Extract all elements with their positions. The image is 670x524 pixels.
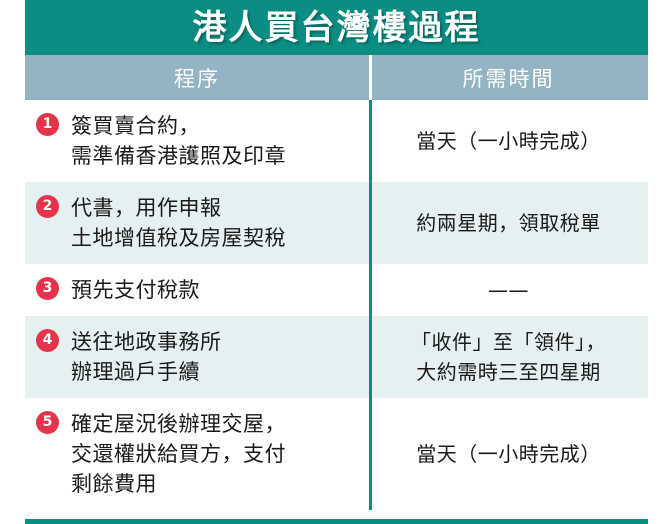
column-divider-header	[369, 55, 372, 100]
step-number-badge: 5	[36, 411, 59, 434]
step-cell: 2 代書，用作申報 土地增值稅及房屋契稅	[25, 182, 369, 264]
step-cell: 3 預先支付稅款	[25, 264, 369, 316]
time-description: 「收件」至「領件」， 大約需時三至四星期	[411, 327, 606, 387]
time-cell: 當天（一小時完成）	[369, 100, 648, 182]
bottom-rule	[25, 519, 648, 524]
table-body: 1 簽買賣合約， 需準備香港護照及印章 當天（一小時完成） 2 代書，用作申報 …	[25, 100, 648, 510]
step-cell: 5 確定屋況後辦理交屋， 交還權狀給買方，支付 剩餘費用	[25, 398, 369, 510]
step-description: 代書，用作申報 土地增值稅及房屋契稅	[71, 193, 286, 253]
table-row: 5 確定屋況後辦理交屋， 交還權狀給買方，支付 剩餘費用 當天（一小時完成）	[25, 398, 648, 510]
step-number-badge: 3	[36, 277, 59, 300]
time-description: 約兩星期，領取稅單	[416, 208, 601, 238]
table-row: 4 送往地政事務所 辦理過戶手續 「收件」至「領件」， 大約需時三至四星期	[25, 316, 648, 398]
page-title: 港人買台灣樓過程	[193, 11, 481, 45]
step-cell: 4 送往地政事務所 辦理過戶手續	[25, 316, 369, 398]
infographic-root: 港人買台灣樓過程 程序 所需時間 1 簽買賣合約， 需準備香港護照及印章 當天（…	[0, 0, 670, 508]
time-cell: ——	[369, 264, 648, 316]
process-table: 港人買台灣樓過程 程序 所需時間 1 簽買賣合約， 需準備香港護照及印章 當天（…	[25, 0, 648, 524]
step-description: 送往地政事務所 辦理過戶手續	[71, 327, 222, 387]
step-description: 預先支付稅款	[71, 275, 200, 305]
time-cell: 「收件」至「領件」， 大約需時三至四星期	[369, 316, 648, 398]
step-number-badge: 4	[36, 329, 59, 352]
table-row: 1 簽買賣合約， 需準備香港護照及印章 當天（一小時完成）	[25, 100, 648, 182]
step-number-badge: 2	[36, 195, 59, 218]
time-description: 當天（一小時完成）	[416, 439, 601, 469]
column-divider-body	[369, 100, 372, 510]
column-header-step: 程序	[25, 55, 369, 100]
column-header-row: 程序 所需時間	[25, 55, 648, 100]
step-description: 簽買賣合約， 需準備香港護照及印章	[71, 111, 286, 171]
table-row: 3 預先支付稅款 ——	[25, 264, 648, 316]
time-cell: 約兩星期，領取稅單	[369, 182, 648, 264]
title-bar: 港人買台灣樓過程	[25, 0, 648, 55]
time-description: 當天（一小時完成）	[416, 126, 601, 156]
step-cell: 1 簽買賣合約， 需準備香港護照及印章	[25, 100, 369, 182]
time-description: ——	[488, 275, 529, 305]
step-description: 確定屋況後辦理交屋， 交還權狀給買方，支付 剩餘費用	[71, 409, 286, 499]
step-number-badge: 1	[36, 113, 59, 136]
table-row: 2 代書，用作申報 土地增值稅及房屋契稅 約兩星期，領取稅單	[25, 182, 648, 264]
time-cell: 當天（一小時完成）	[369, 398, 648, 510]
column-header-time: 所需時間	[369, 55, 648, 100]
